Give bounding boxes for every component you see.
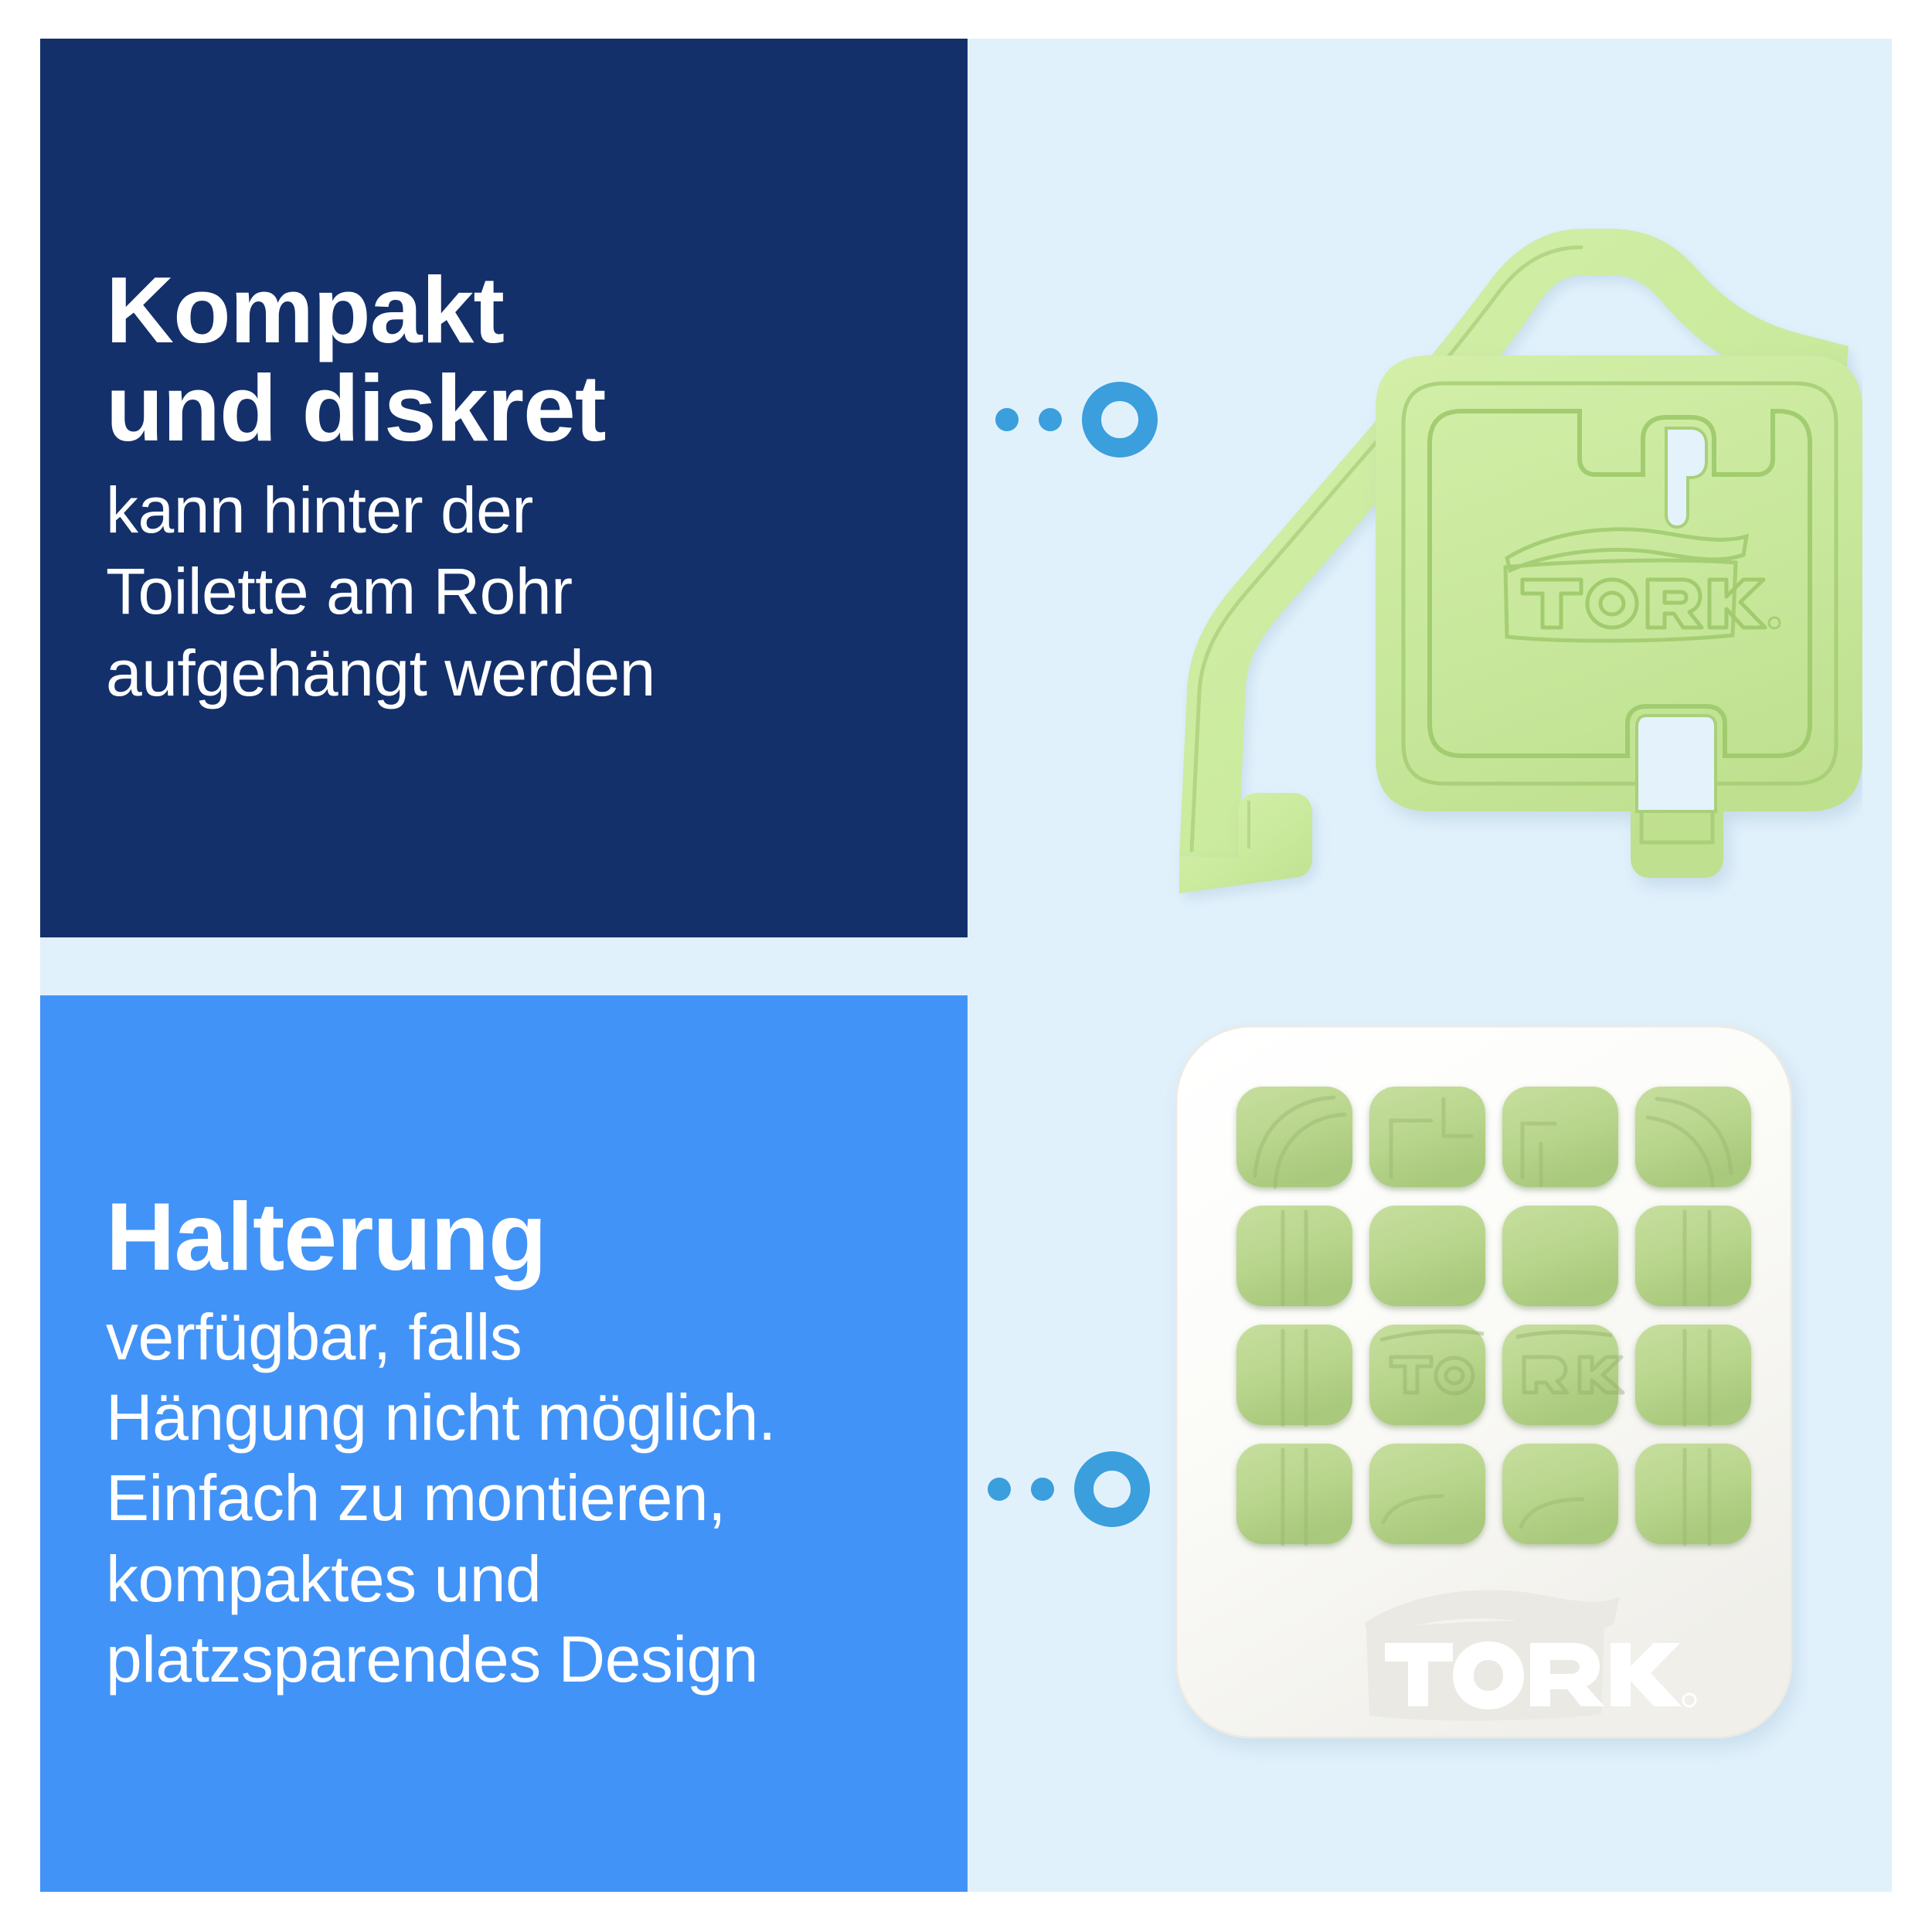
holder-window [1502,1087,1618,1187]
holder-window [1369,1206,1485,1306]
holder-window [1635,1087,1751,1187]
infographic-canvas: Kompakt und diskret kann hinter der Toil… [0,0,1932,1932]
holder-window [1369,1444,1485,1544]
callout-ring-icon [1074,1451,1150,1527]
holder-window [1502,1444,1618,1544]
product-image-cartridge [1028,116,1862,935]
panel-compact-subline: kann hinter der Toilette am Rohr aufgehä… [106,470,898,715]
holder-window [1236,1206,1352,1306]
product-image-wall-holder [1159,1012,1808,1785]
holder-window [1635,1206,1751,1306]
callout-connector-bottom [988,1451,1150,1527]
connector-dot-icon [1031,1478,1054,1501]
connector-dot-icon [995,408,1019,431]
panel-holder: Halterung verfügbar, falls Hängung nicht… [40,995,968,1892]
holder-window [1502,1206,1618,1306]
panel-holder-headline: Halterung [106,1188,898,1287]
holder-window [1635,1444,1751,1544]
connector-dot-icon [988,1478,1011,1501]
holder-window [1236,1444,1352,1544]
panel-compact-headline: Kompakt und diskret [106,261,898,457]
cartridge-body [1376,355,1862,878]
panel-compact-discrete: Kompakt und diskret kann hinter der Toil… [40,39,968,937]
holder-window [1635,1325,1751,1425]
panel-holder-subline: verfügbar, falls Hängung nicht möglich. … [106,1297,898,1699]
holder-window [1236,1325,1352,1425]
